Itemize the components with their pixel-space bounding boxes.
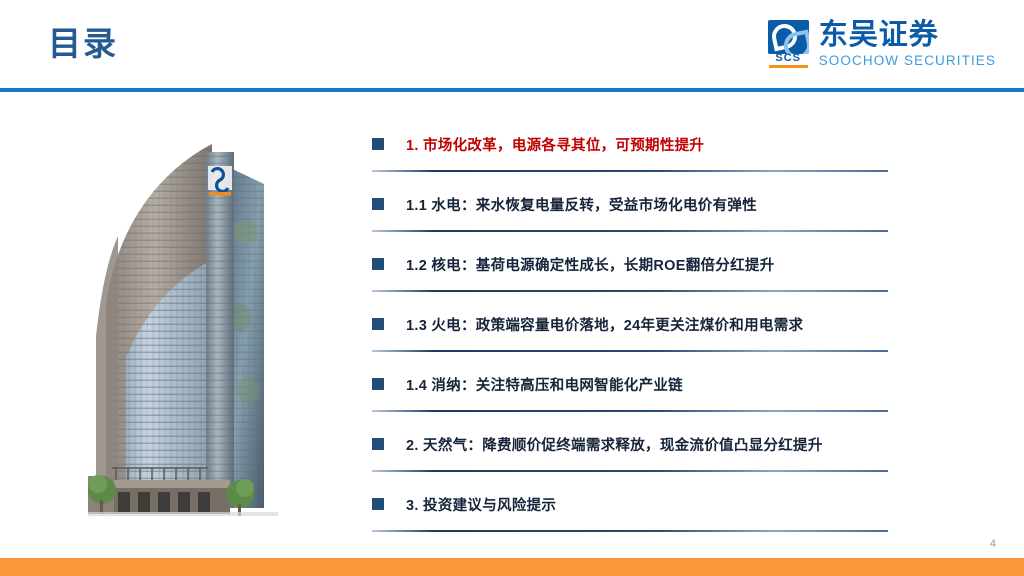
bullet-square-icon — [372, 198, 384, 210]
logo-wordmark: 东吴证券 SOOCHOW SECURITIES — [819, 20, 996, 68]
toc-item-label: 1. 市场化改革，电源各寻其位，可预期性提升 — [406, 134, 704, 155]
toc-item-2[interactable]: 1.1 水电：来水恢复电量反转，受益市场化电价有弹性 — [372, 186, 892, 238]
bullet-square-icon — [372, 138, 384, 150]
toc-item-label: 1.4 消纳：关注特高压和电网智能化产业链 — [406, 374, 683, 395]
logo-name-en: SOOCHOW SECURITIES — [819, 54, 996, 68]
toc-item-4[interactable]: 1.3 火电：政策端容量电价落地，24年更关注煤价和用电需求 — [372, 306, 892, 358]
bullet-square-icon — [372, 438, 384, 450]
toc-item-underline — [372, 290, 888, 292]
logo-scs-underline — [769, 65, 808, 68]
toc-item-label: 1.1 水电：来水恢复电量反转，受益市场化电价有弹性 — [406, 194, 757, 215]
footer-accent-bar — [0, 558, 1024, 576]
toc-item-underline — [372, 350, 888, 352]
toc-item-underline — [372, 530, 888, 532]
toc-item-underline — [372, 410, 888, 412]
toc-item-underline — [372, 170, 888, 172]
toc-item-6[interactable]: 2. 天然气：降费顺价促终端需求释放，现金流价值凸显分红提升 — [372, 426, 892, 478]
bullet-square-icon — [372, 258, 384, 270]
page-number: 4 — [990, 538, 996, 550]
headquarters-building-image — [88, 122, 278, 530]
logo-swirl-icon — [768, 20, 809, 54]
bullet-square-icon — [372, 378, 384, 390]
slide-root: 目录 SCS 东吴证券 SOOCHOW SECURITIES — [0, 0, 1024, 576]
toc-item-7[interactable]: 3. 投资建议与风险提示 — [372, 486, 892, 538]
toc-list: 1. 市场化改革，电源各寻其位，可预期性提升 1.1 水电：来水恢复电量反转，受… — [372, 126, 892, 546]
bullet-square-icon — [372, 318, 384, 330]
toc-item-5[interactable]: 1.4 消纳：关注特高压和电网智能化产业链 — [372, 366, 892, 418]
logo-mark-icon: SCS — [768, 20, 812, 68]
toc-item-underline — [372, 230, 888, 232]
page-title: 目录 — [48, 26, 118, 62]
toc-item-label: 1.2 核电：基荷电源确定性成长，长期ROE翻倍分红提升 — [406, 254, 775, 275]
toc-item-label: 2. 天然气：降费顺价促终端需求释放，现金流价值凸显分红提升 — [406, 434, 823, 455]
toc-item-3[interactable]: 1.2 核电：基荷电源确定性成长，长期ROE翻倍分红提升 — [372, 246, 892, 298]
company-logo: SCS 东吴证券 SOOCHOW SECURITIES — [768, 20, 996, 68]
bullet-square-icon — [372, 498, 384, 510]
logo-name-cn: 东吴证券 — [819, 20, 996, 50]
toc-item-underline — [372, 470, 888, 472]
toc-item-label: 1.3 火电：政策端容量电价落地，24年更关注煤价和用电需求 — [406, 314, 803, 335]
toc-item-label: 3. 投资建议与风险提示 — [406, 494, 556, 515]
toc-item-1[interactable]: 1. 市场化改革，电源各寻其位，可预期性提升 — [372, 126, 892, 178]
header-divider — [0, 88, 1024, 92]
logo-scs-text: SCS — [768, 53, 809, 63]
